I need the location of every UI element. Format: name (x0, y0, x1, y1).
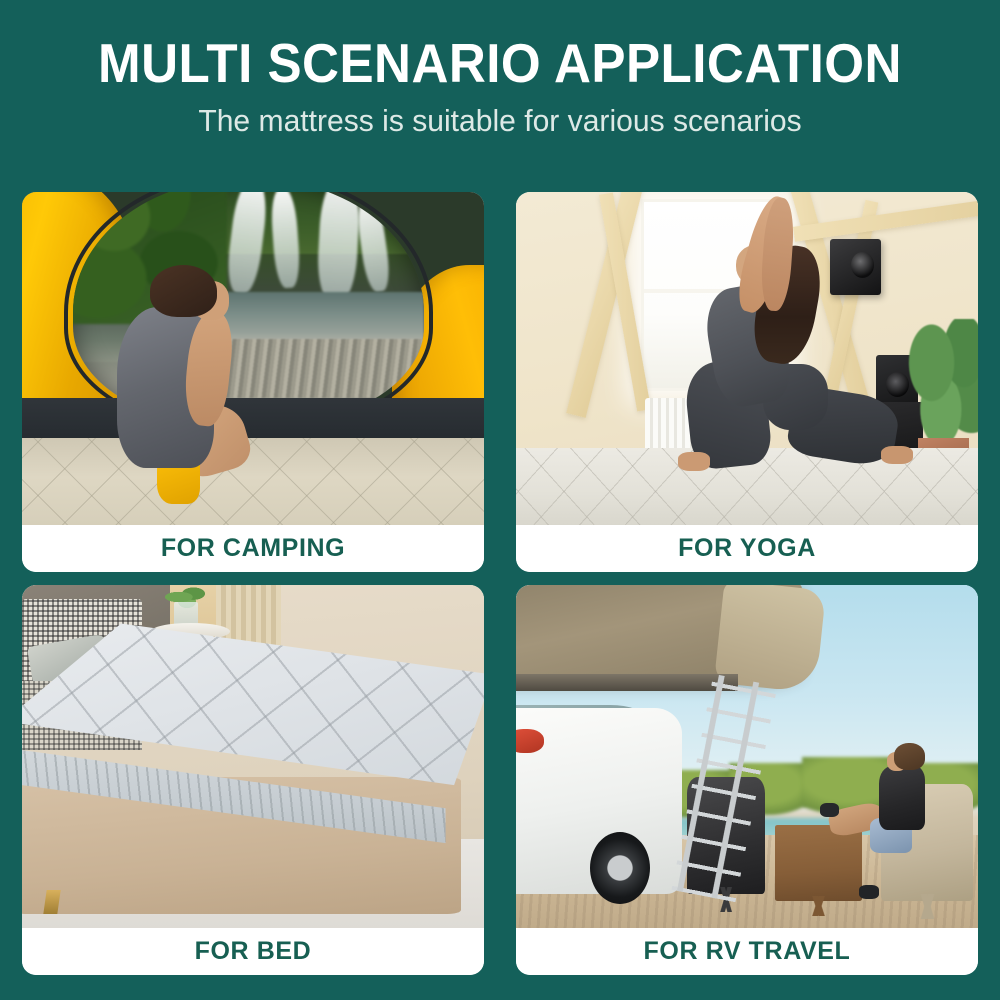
page-title: MULTI SCENARIO APPLICATION (35, 34, 965, 92)
camper-person (101, 265, 267, 525)
seated-man (853, 743, 945, 901)
scenario-card-yoga[interactable]: FOR YOGA (516, 192, 978, 572)
rv-travel-photo (516, 585, 978, 928)
man-torso (879, 766, 925, 829)
camp-table (775, 825, 863, 900)
camping-photo (22, 192, 484, 525)
red-container (516, 729, 544, 753)
scenario-card-camping[interactable]: FOR CAMPING (22, 192, 484, 572)
scenario-card-bed[interactable]: FOR BED (22, 585, 484, 975)
yogi-foot (678, 452, 710, 471)
man-shoe (859, 885, 879, 899)
page-subtitle: The mattress is suitable for various sce… (15, 103, 985, 139)
bed-photo (22, 585, 484, 928)
yoga-person (645, 192, 913, 505)
card-caption-rv-travel: FOR RV TRAVEL (516, 928, 978, 975)
scenario-card-grid: FOR CAMPING (22, 192, 978, 975)
card-caption-yoga: FOR YOGA (516, 525, 978, 572)
card-caption-camping: FOR CAMPING (22, 525, 484, 572)
man-head (894, 743, 925, 770)
scenario-card-rv-travel[interactable]: FOR RV TRAVEL (516, 585, 978, 975)
man-shoe (820, 803, 838, 817)
card-caption-bed: FOR BED (22, 928, 484, 975)
roof-rack (516, 674, 738, 691)
camper-hair (150, 265, 217, 317)
car-wheel (590, 832, 650, 904)
page-header: MULTI SCENARIO APPLICATION The mattress … (0, 0, 1000, 139)
yoga-photo (516, 192, 978, 525)
yogi-foot (881, 446, 913, 465)
